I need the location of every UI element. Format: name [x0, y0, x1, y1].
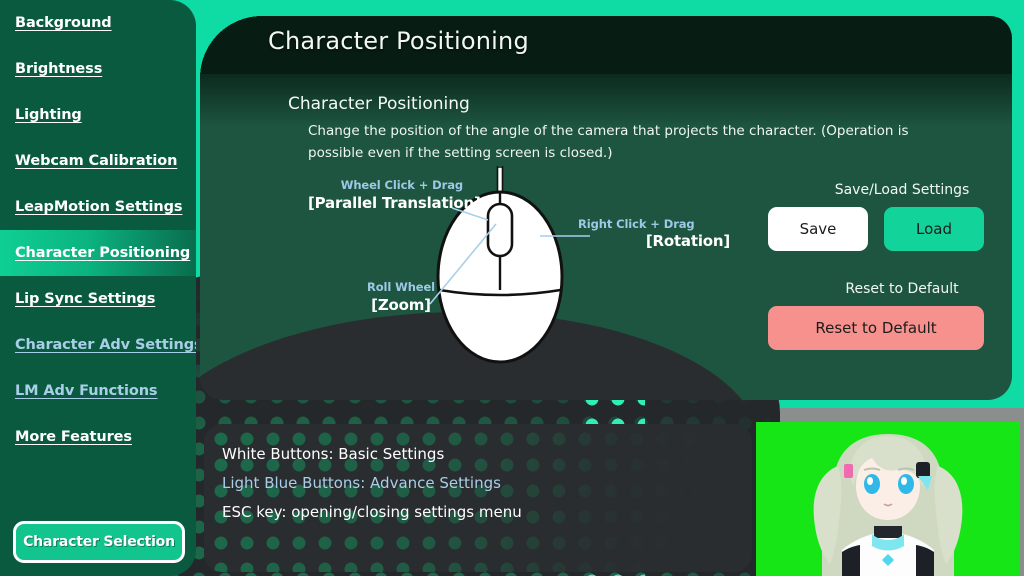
save-load-settings-label: Save/Load Settings	[792, 182, 1012, 198]
roll-wheel-result: [Zoom]	[371, 296, 431, 314]
reset-to-default-label: Reset to Default	[792, 281, 1012, 297]
character-selection-wrap: Character Selection	[13, 521, 185, 563]
info-line: Light Blue Buttons: Advance Settings	[222, 469, 522, 498]
wheel-click-result: [Parallel Translation]	[308, 194, 481, 212]
mouse-label-roll-wheel: Roll Wheel [Zoom]	[336, 276, 466, 314]
sidebar-item-brightness[interactable]: Brightness	[0, 46, 196, 92]
sidebar-item-lighting[interactable]: Lighting	[0, 92, 196, 138]
sidebar-item-webcam-calibration[interactable]: Webcam Calibration	[0, 138, 196, 184]
character-selection-button[interactable]: Character Selection	[13, 521, 185, 563]
sidebar-item-label: Brightness	[15, 61, 102, 77]
right-click-action: Right Click + Drag	[578, 217, 695, 231]
section-title: Character Positioning	[288, 94, 470, 114]
right-click-result: [Rotation]	[578, 232, 748, 250]
sidebar-item-label: Lighting	[15, 107, 82, 123]
sidebar: BackgroundBrightnessLightingWebcam Calib…	[0, 0, 196, 576]
page-title: Character Positioning	[268, 27, 529, 55]
mouse-label-wheel-click: Wheel Click + Drag [Parallel Translation…	[308, 174, 463, 212]
sidebar-item-label: Lip Sync Settings	[15, 291, 155, 307]
character-preview[interactable]	[756, 422, 1020, 576]
sidebar-item-lip-sync-settings[interactable]: Lip Sync Settings	[0, 276, 196, 322]
info-line: ESC key: opening/closing settings menu	[222, 498, 522, 527]
reset-to-default-button[interactable]: Reset to Default	[768, 306, 984, 350]
wheel-click-action: Wheel Click + Drag	[341, 178, 463, 192]
load-button[interactable]: Load	[884, 207, 984, 251]
sidebar-item-label: Character Positioning	[15, 245, 190, 261]
sidebar-item-lm-adv-functions[interactable]: LM Adv Functions	[0, 368, 196, 414]
header-corner-notch	[200, 16, 262, 78]
sidebar-item-character-positioning[interactable]: Character Positioning	[0, 230, 196, 276]
info-line: White Buttons: Basic Settings	[222, 440, 522, 469]
mouse-diagram: Wheel Click + Drag [Parallel Translation…	[300, 164, 760, 394]
mouse-label-right-click: Right Click + Drag [Rotation]	[578, 213, 748, 250]
sidebar-item-character-adv-settings[interactable]: Character Adv Settings	[0, 322, 196, 368]
sidebar-item-background[interactable]: Background	[0, 0, 196, 46]
main-content-panel: Character Positioning Change the positio…	[200, 74, 1012, 400]
sidebar-item-more-features[interactable]: More Features	[0, 414, 196, 460]
sidebar-item-leapmotion-settings[interactable]: LeapMotion Settings	[0, 184, 196, 230]
sidebar-menu: BackgroundBrightnessLightingWebcam Calib…	[0, 0, 196, 460]
sidebar-item-label: Webcam Calibration	[15, 153, 177, 169]
save-button[interactable]: Save	[768, 207, 868, 251]
info-legend-lines: White Buttons: Basic SettingsLight Blue …	[222, 440, 522, 527]
roll-wheel-action: Roll Wheel	[367, 280, 435, 294]
sidebar-item-label: LM Adv Functions	[15, 383, 157, 399]
sidebar-item-label: Background	[15, 15, 112, 31]
vtuber-avatar	[756, 422, 1020, 576]
info-legend-panel: White Buttons: Basic SettingsLight Blue …	[204, 424, 752, 572]
app-window: BackgroundBrightnessLightingWebcam Calib…	[0, 0, 1024, 576]
sidebar-item-label: More Features	[15, 429, 132, 445]
sidebar-item-label: LeapMotion Settings	[15, 199, 182, 215]
sidebar-item-label: Character Adv Settings	[15, 337, 196, 353]
section-description: Change the position of the angle of the …	[308, 120, 948, 164]
